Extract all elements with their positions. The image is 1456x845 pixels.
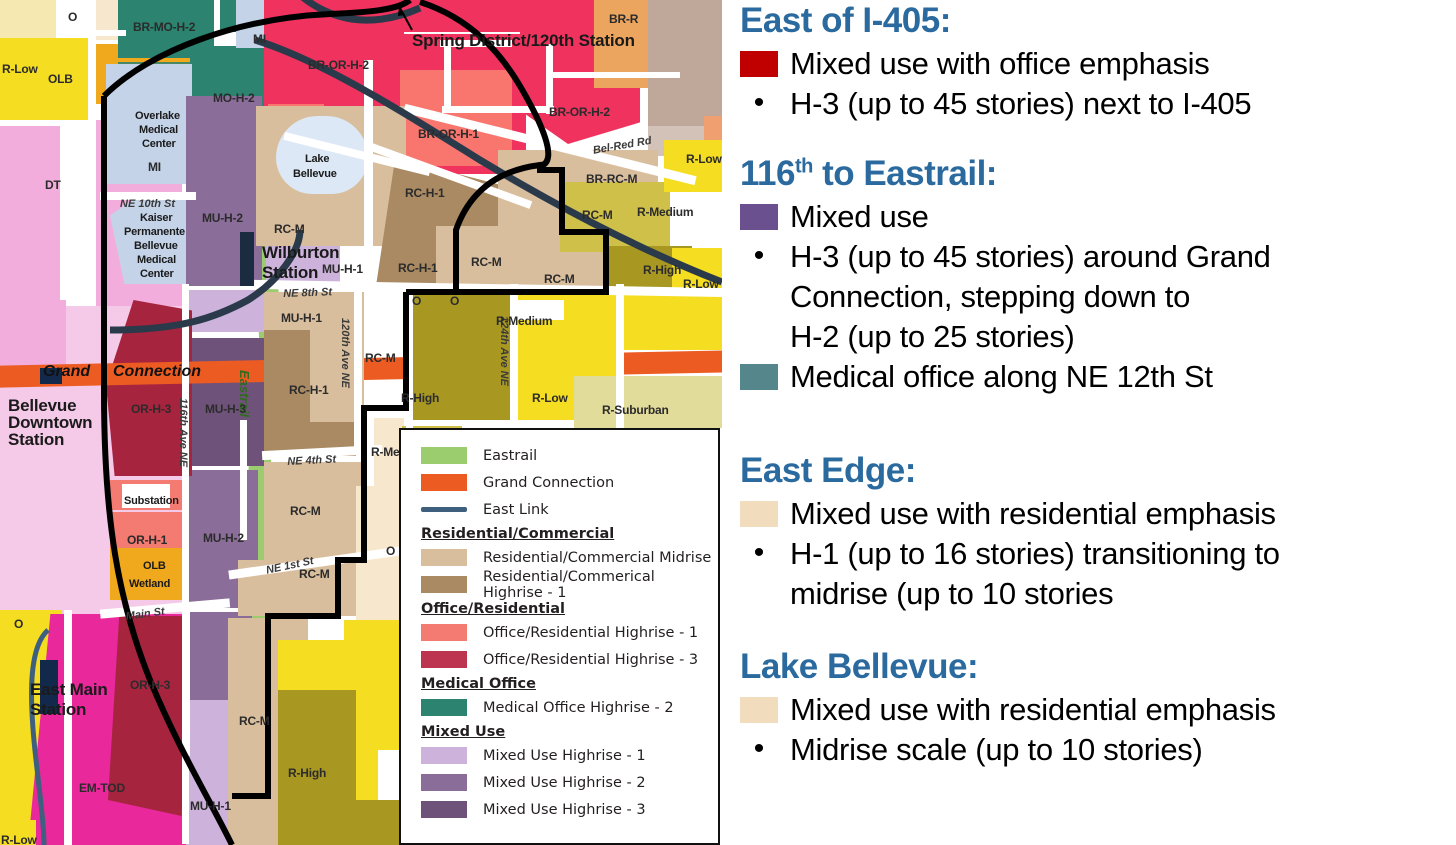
map-label: Bellevue	[134, 240, 178, 252]
section-heading: Lake Bellevue:	[740, 648, 1456, 686]
legend-color-swatch	[421, 474, 467, 491]
legend-group-header: Medical Office	[421, 676, 718, 692]
legend-text: Mixed use with residential emphasis	[790, 690, 1276, 730]
map-label: RC-H-1	[398, 261, 437, 275]
legend-color-swatch	[421, 699, 467, 716]
zone-patch	[264, 0, 404, 106]
road	[354, 284, 362, 454]
map-label: Wilburton	[262, 243, 339, 263]
road	[364, 60, 373, 290]
map-label: Station	[262, 263, 318, 283]
map-label: Overlake	[135, 110, 180, 122]
map-label: Lake	[305, 153, 329, 165]
road	[552, 72, 680, 78]
zone-patch	[0, 300, 66, 370]
legend-line-symbol	[421, 507, 467, 512]
map-label: RC-M	[290, 504, 321, 518]
map-label: Medical	[137, 254, 176, 266]
map-label: R-Medium	[496, 314, 552, 328]
map-label: BR-MO-H-2	[133, 20, 195, 34]
legend-item[interactable]: Mixed Use Highrise - 2	[421, 769, 718, 796]
map-label: R-Low	[532, 391, 568, 405]
legend-item-label: Residential/Commerical Highrise - 1	[483, 569, 718, 601]
legend-group-header: Office/Residential	[421, 601, 718, 617]
heading-superscript: th	[795, 155, 813, 177]
map-label: EM-TOD	[79, 781, 125, 795]
legend-color-swatch	[421, 651, 467, 668]
map-label: MO-H-2	[213, 91, 254, 105]
map-label: Station	[8, 430, 64, 450]
map-label: O	[68, 10, 77, 24]
map-label: MU-H-1	[190, 799, 231, 813]
bullet-row: • Midrise scale (up to 10 stories)	[740, 730, 1456, 770]
legend-item-label: Medical Office Highrise - 2	[483, 700, 674, 716]
road	[546, 44, 553, 114]
map-label: MU-H-1	[322, 262, 363, 276]
zone-patch	[386, 0, 506, 32]
map-label: Grand	[43, 363, 90, 381]
zone-patch	[186, 290, 264, 332]
zone-patch	[0, 38, 88, 120]
map-label: NE 8th St	[283, 286, 332, 300]
map-label: NE 4th St	[287, 453, 336, 468]
bullet-text: H-3 (up to 45 stories) next to I-405	[790, 84, 1251, 124]
legend-color-swatch	[421, 576, 467, 593]
heading-rest: to Eastrail:	[813, 154, 997, 193]
map-label: Bellevue	[293, 168, 337, 180]
map-label: R-Low	[686, 152, 722, 166]
bullet-continuation: Connection, stepping down to	[740, 277, 1456, 317]
map-label: R-Low	[683, 277, 719, 291]
bullet-dot: •	[740, 237, 778, 275]
map-label: RC-M	[299, 567, 330, 581]
legend-item-label: East Link	[483, 502, 549, 518]
legend-group-header: Residential/Commercial	[421, 526, 718, 542]
map-label: Medical	[139, 124, 178, 136]
map-label: R-High	[643, 263, 681, 277]
map-label: R-Medium	[637, 205, 693, 219]
bullet-row: • H-1 (up to 16 stories) transitioning t…	[740, 534, 1456, 574]
zone-patch	[110, 548, 182, 600]
bullet-row: • H-3 (up to 45 stories) around Grand	[740, 237, 1456, 277]
map-label: Spring District/120th Station	[412, 31, 635, 51]
color-swatch	[740, 364, 778, 390]
legend-item-label: Mixed Use Highrise - 2	[483, 775, 646, 791]
map-label: Center	[142, 138, 176, 150]
bullet-text: H-1 (up to 16 stories) transitioning to	[790, 534, 1280, 574]
map-label: Wetland	[129, 578, 170, 590]
map-label: BR-OR-H-2	[308, 58, 369, 72]
zone-patch	[0, 0, 56, 38]
slide-root: NE 10th StNE 8th StBel-Red RdGrandConnec…	[0, 0, 1456, 845]
heading-main: 116	[740, 154, 795, 193]
map-label: DT	[45, 178, 61, 192]
bullet-continuation: H-2 (up to 25 stories)	[740, 317, 1456, 357]
map-label: MU-H-2	[203, 531, 244, 545]
legend-row: Mixed use with residential emphasis	[740, 494, 1456, 534]
legend-item-label: Mixed Use Highrise - 3	[483, 802, 646, 818]
legend-item-label: Mixed Use Highrise - 1	[483, 748, 646, 764]
legend-color-swatch	[421, 774, 467, 791]
map-label: MU-H-1	[281, 311, 322, 325]
color-swatch	[740, 697, 778, 723]
bullet-dot: •	[740, 534, 778, 572]
map-label: RC-M	[582, 208, 613, 222]
bullet-dot: •	[740, 730, 778, 768]
legend-item[interactable]: Grand Connection	[421, 469, 718, 496]
legend-group-header: Mixed Use	[421, 724, 718, 740]
map-legend[interactable]: EastrailGrand ConnectionEast LinkResiden…	[399, 428, 720, 845]
color-swatch	[740, 501, 778, 527]
legend-row: Mixed use with office emphasis	[740, 44, 1456, 84]
bullet-dot: •	[740, 84, 778, 122]
map-label: R-Suburban	[602, 403, 669, 417]
map-label: MI	[148, 160, 161, 174]
map-label: R-Low	[1, 833, 37, 845]
legend-item[interactable]: Mixed Use Highrise - 1	[421, 742, 718, 769]
legend-row: Mixed use with residential emphasis	[740, 690, 1456, 730]
map-label: BR-OR-H-1	[418, 127, 479, 141]
section-heading: East Edge:	[740, 452, 1456, 490]
zone-patch	[0, 126, 60, 306]
legend-color-swatch	[421, 447, 467, 464]
legend-item-label: Grand Connection	[483, 475, 614, 491]
legend-text: Mixed use with residential emphasis	[790, 494, 1276, 534]
map-label: MI	[253, 32, 266, 46]
map-label: Center	[140, 268, 174, 280]
map-label: NE 10th St	[120, 198, 175, 210]
road	[442, 106, 554, 113]
summary-panel: East of I-405: Mixed use with office emp…	[740, 0, 1456, 845]
map-label: BR-R	[609, 12, 638, 26]
legend-color-swatch	[421, 747, 467, 764]
map-label: Substation	[124, 495, 179, 507]
map-label: RC-M	[544, 272, 575, 286]
map-label: OR-H-3	[130, 678, 170, 692]
legend-row: Medical office along NE 12th St	[740, 357, 1456, 397]
legend-row: Mixed use	[740, 197, 1456, 237]
legend-item[interactable]: Mixed Use Highrise - 3	[421, 796, 718, 823]
zone-patch	[66, 126, 96, 306]
legend-color-swatch	[421, 549, 467, 566]
map-label: Station	[30, 700, 86, 720]
map-label: Connection	[113, 363, 201, 381]
map-label: OR-H-3	[131, 402, 171, 416]
legend-item-label: Residential/Commercial Midrise	[483, 550, 711, 566]
legend-text: Mixed use with office emphasis	[790, 44, 1209, 84]
bullet-continuation: midrise (up to 10 stories	[740, 574, 1456, 614]
section-116th-to-eastrail: 116th to Eastrail: Mixed use • H-3 (up t…	[740, 155, 1456, 397]
zone-patch	[616, 290, 722, 350]
map-label: OLB	[48, 72, 73, 86]
legend-item[interactable]: East Link	[421, 496, 718, 523]
map-label: 116th Ave NE	[177, 398, 189, 467]
map-label: RC-M	[274, 222, 305, 236]
map-label: O	[450, 294, 459, 308]
legend-color-swatch	[421, 624, 467, 641]
zone-patch	[648, 0, 722, 126]
legend-item-label: Office/Residential Highrise - 1	[483, 625, 698, 641]
legend-item-label: Eastrail	[483, 448, 537, 464]
map-label: OLB	[143, 560, 166, 572]
map-label: MU-H-2	[202, 211, 243, 225]
section-heading: East of I-405:	[740, 2, 1456, 40]
map-label: BR-OR-H-2	[549, 105, 610, 119]
road	[64, 610, 72, 845]
bullet-text: Midrise scale (up to 10 stories)	[790, 730, 1203, 770]
section-lake-bellevue: Lake Bellevue: Mixed use with residentia…	[740, 648, 1456, 770]
bullet-row: • H-3 (up to 45 stories) next to I-405	[740, 84, 1456, 124]
map-label: O	[386, 544, 395, 558]
color-swatch	[740, 204, 778, 230]
legend-item[interactable]: Medical Office Highrise - 2	[421, 694, 718, 721]
legend-item[interactable]: Eastrail	[421, 442, 718, 469]
map-label: RC-H-1	[405, 186, 444, 200]
land-use-map[interactable]: NE 10th StNE 8th StBel-Red RdGrandConnec…	[0, 0, 722, 845]
road	[240, 420, 247, 540]
section-east-edge: East Edge: Mixed use with residential em…	[740, 452, 1456, 614]
map-label: R-Low	[2, 62, 38, 76]
legend-item-label: Office/Residential Highrise - 3	[483, 652, 698, 668]
road	[90, 30, 126, 36]
legend-text: Medical office along NE 12th St	[790, 357, 1213, 397]
map-label: OR-H-1	[127, 533, 167, 547]
legend-text: Mixed use	[790, 197, 929, 237]
legend-item[interactable]: Residential/Commercial Midrise	[421, 544, 718, 571]
map-label: RC-M	[239, 714, 270, 728]
map-label: Kaiser	[140, 212, 172, 224]
map-label: 120th Ave NE	[339, 318, 351, 388]
map-label: MU-H-3	[205, 402, 246, 416]
section-east-of-i405: East of I-405: Mixed use with office emp…	[740, 2, 1456, 124]
map-label: R-High	[288, 766, 326, 780]
map-label: R-High	[401, 391, 439, 405]
legend-color-swatch	[421, 801, 467, 818]
map-label: Permanente	[124, 226, 185, 238]
map-label: RC-M	[471, 255, 502, 269]
color-swatch	[740, 51, 778, 77]
section-heading: 116th to Eastrail:	[740, 155, 1456, 193]
map-label: BR-RC-M	[586, 172, 637, 186]
map-label: East Main	[30, 680, 108, 700]
zone-patch	[186, 96, 262, 286]
map-label: RC-H-1	[289, 383, 328, 397]
road	[510, 284, 518, 430]
legend-item[interactable]: Office/Residential Highrise - 1	[421, 619, 718, 646]
map-label: O	[412, 294, 421, 308]
legend-item[interactable]: Residential/Commerical Highrise - 1	[421, 571, 718, 598]
legend-item[interactable]: Office/Residential Highrise - 3	[421, 646, 718, 673]
map-label: O	[14, 617, 23, 631]
map-label: RC-M	[365, 351, 396, 365]
zone-patch	[574, 376, 722, 428]
bullet-text: H-3 (up to 45 stories) around Grand	[790, 237, 1271, 277]
